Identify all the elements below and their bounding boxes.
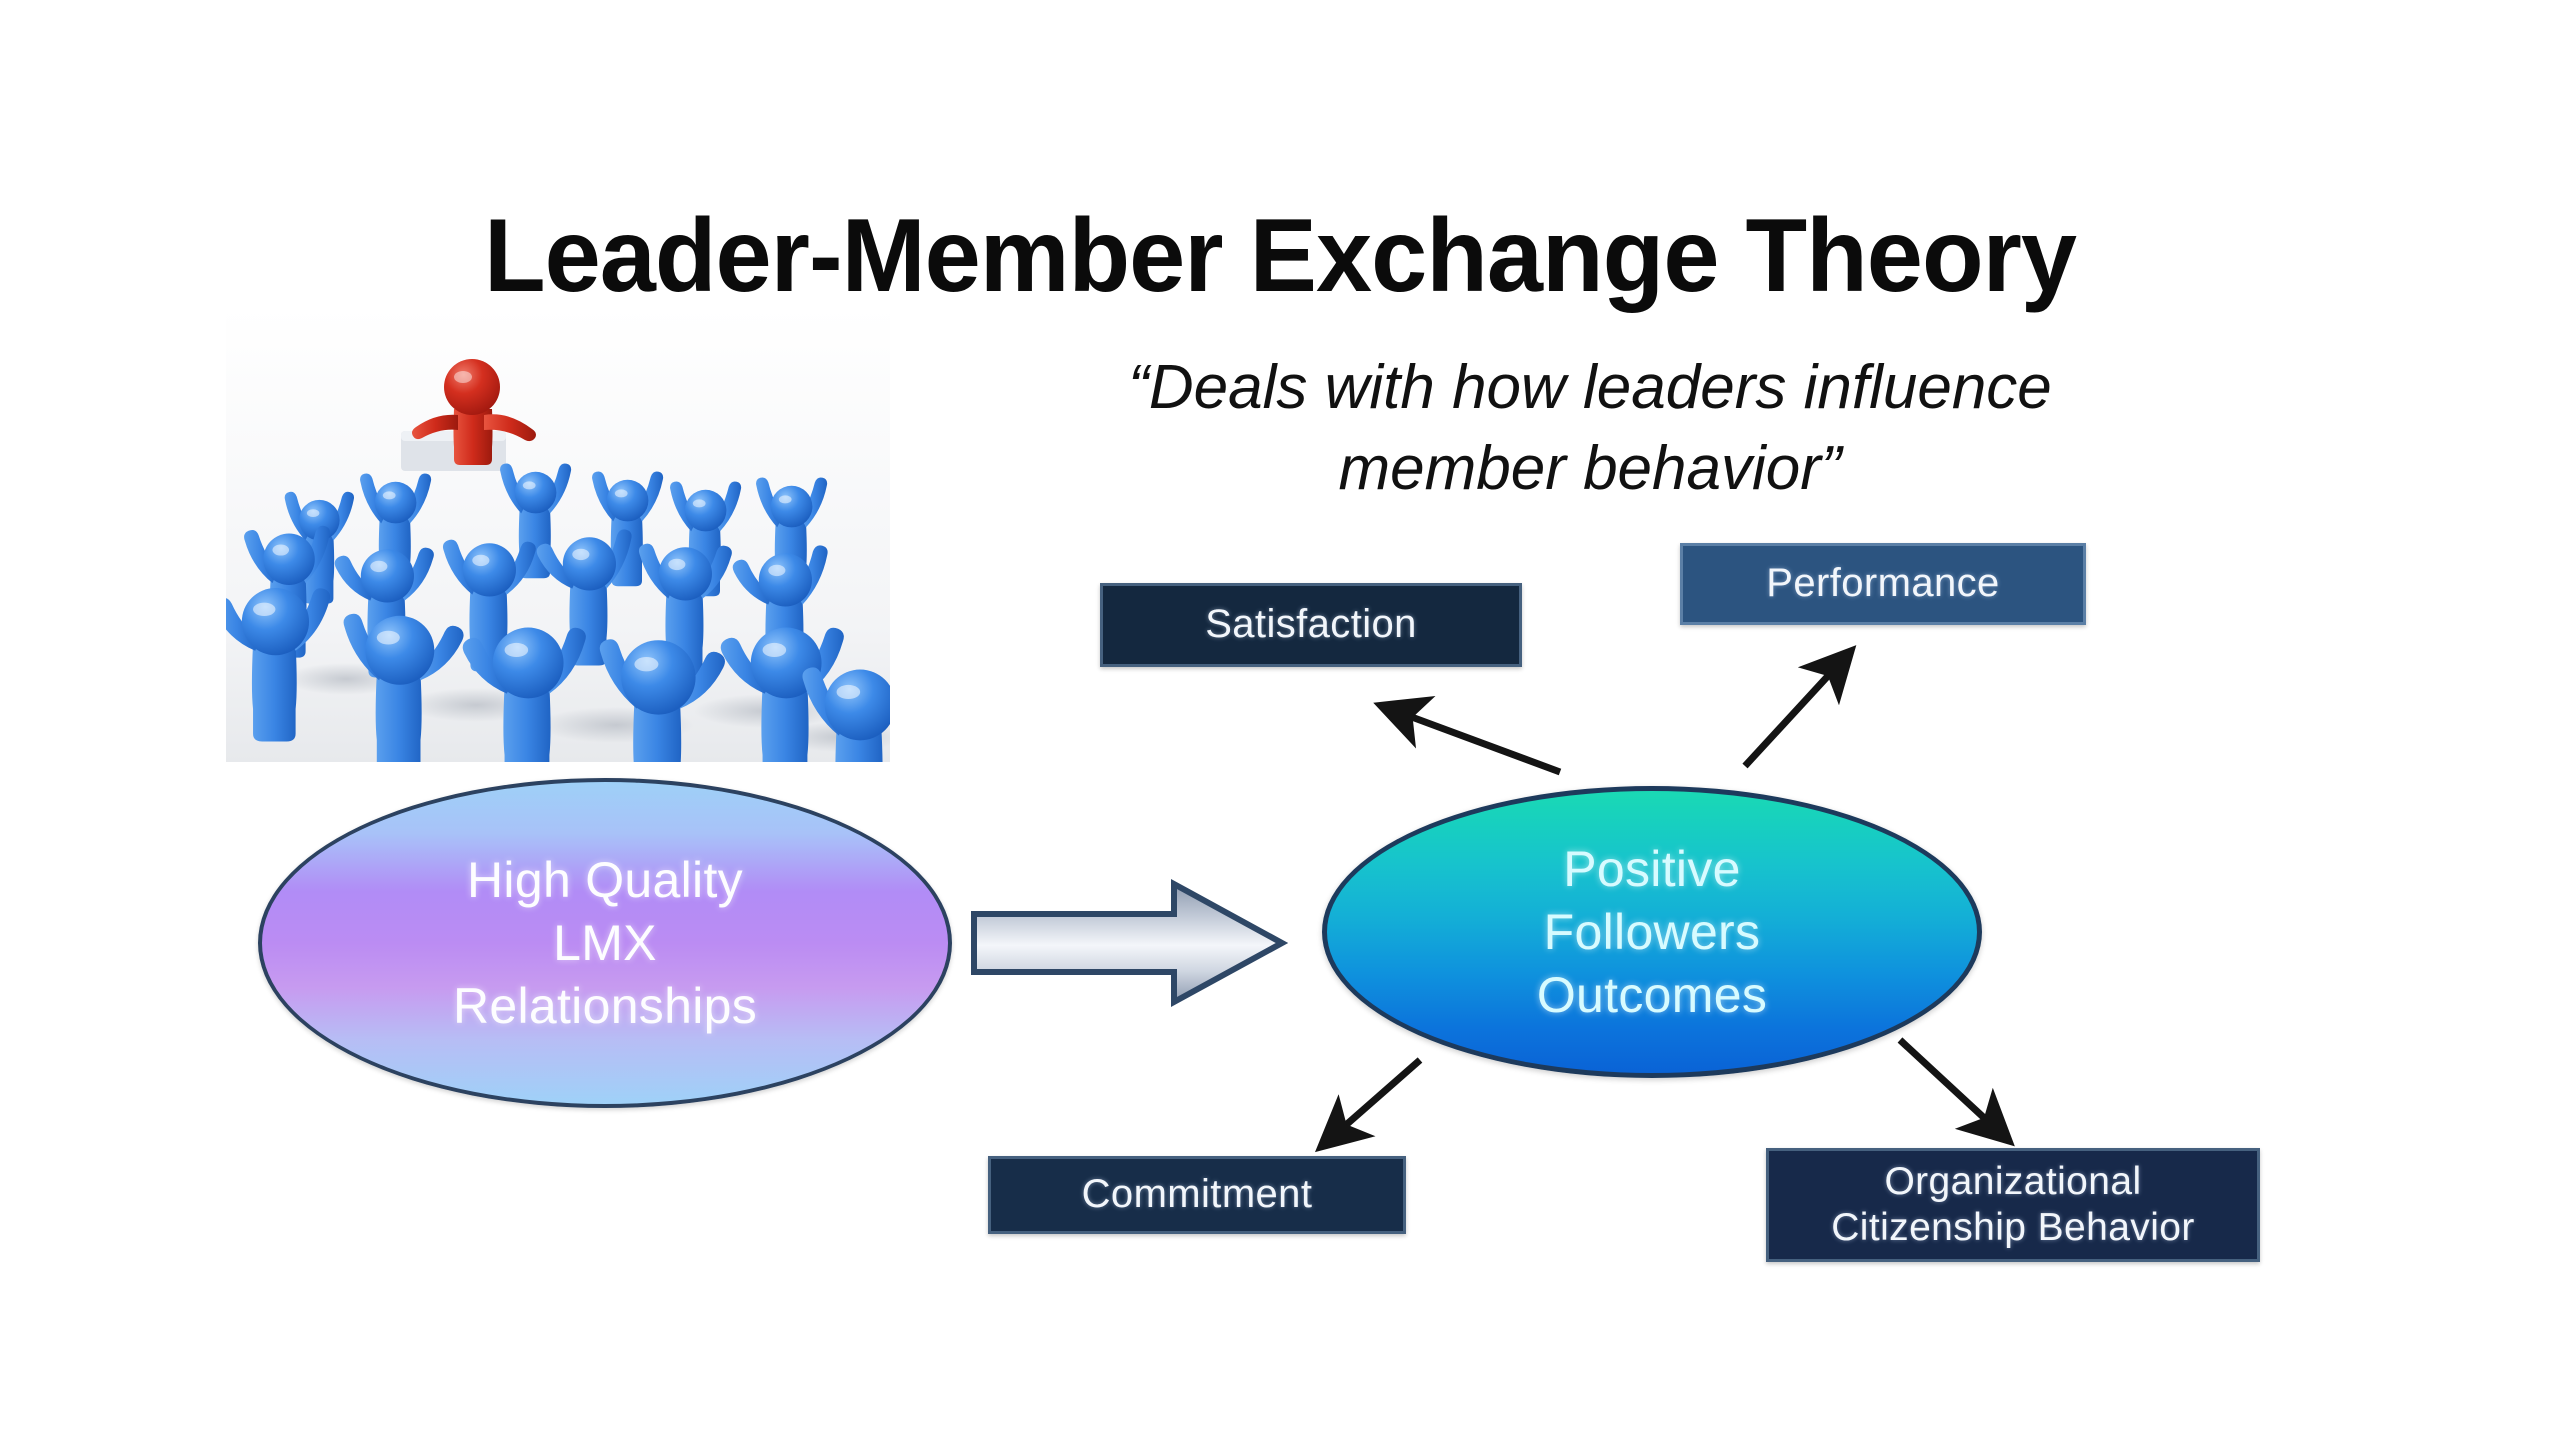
arrow-to-satisfaction <box>1382 706 1560 772</box>
lmx-label-line-3: Relationships <box>453 975 757 1038</box>
subtitle-line-1: “Deals with how leaders influence <box>880 348 2300 429</box>
outcome-box-performance[interactable]: Performance <box>1680 543 2086 625</box>
node-high-quality-lmx-label: High Quality LMX Relationships <box>453 849 757 1038</box>
lmx-label-line-2: LMX <box>453 912 757 975</box>
outcome-box-commitment[interactable]: Commitment <box>988 1156 1406 1234</box>
outcome-box-organizational-citizenship-behavior[interactable]: Organizational Citizenship Behavior <box>1766 1148 2260 1262</box>
ocb-label-line-1: Organizational <box>1831 1159 2195 1205</box>
outcomes-label-line-3: Outcomes <box>1537 964 1767 1027</box>
block-arrow-right-icon <box>968 876 1288 1010</box>
subtitle-quote: “Deals with how leaders influence member… <box>880 348 2300 509</box>
node-positive-followers-outcomes[interactable]: Positive Followers Outcomes <box>1322 786 1982 1078</box>
arrow-to-ocb <box>1900 1040 2008 1140</box>
arrow-to-commitment <box>1322 1060 1420 1146</box>
subtitle-line-2: member behavior” <box>880 429 2300 510</box>
node-positive-followers-outcomes-label: Positive Followers Outcomes <box>1537 838 1767 1027</box>
outcomes-label-line-1: Positive <box>1537 838 1767 901</box>
outcome-box-performance-label: Performance <box>1766 560 1999 607</box>
ocb-label-line-2: Citizenship Behavior <box>1831 1205 2195 1251</box>
outcomes-label-line-2: Followers <box>1537 901 1767 964</box>
page-title: Leader-Member Exchange Theory <box>397 204 2162 308</box>
outcome-box-ocb-label: Organizational Citizenship Behavior <box>1831 1159 2195 1251</box>
leader-crowd-image <box>226 307 890 762</box>
outcome-box-satisfaction-label: Satisfaction <box>1205 601 1417 648</box>
arrow-to-performance <box>1745 652 1850 766</box>
lmx-label-line-1: High Quality <box>453 849 757 912</box>
outcome-box-commitment-label: Commitment <box>1082 1171 1313 1218</box>
outcome-box-satisfaction[interactable]: Satisfaction <box>1100 583 1522 667</box>
diagram-canvas: Leader-Member Exchange Theory “Deals wit… <box>0 0 2560 1440</box>
node-high-quality-lmx[interactable]: High Quality LMX Relationships <box>258 778 952 1108</box>
